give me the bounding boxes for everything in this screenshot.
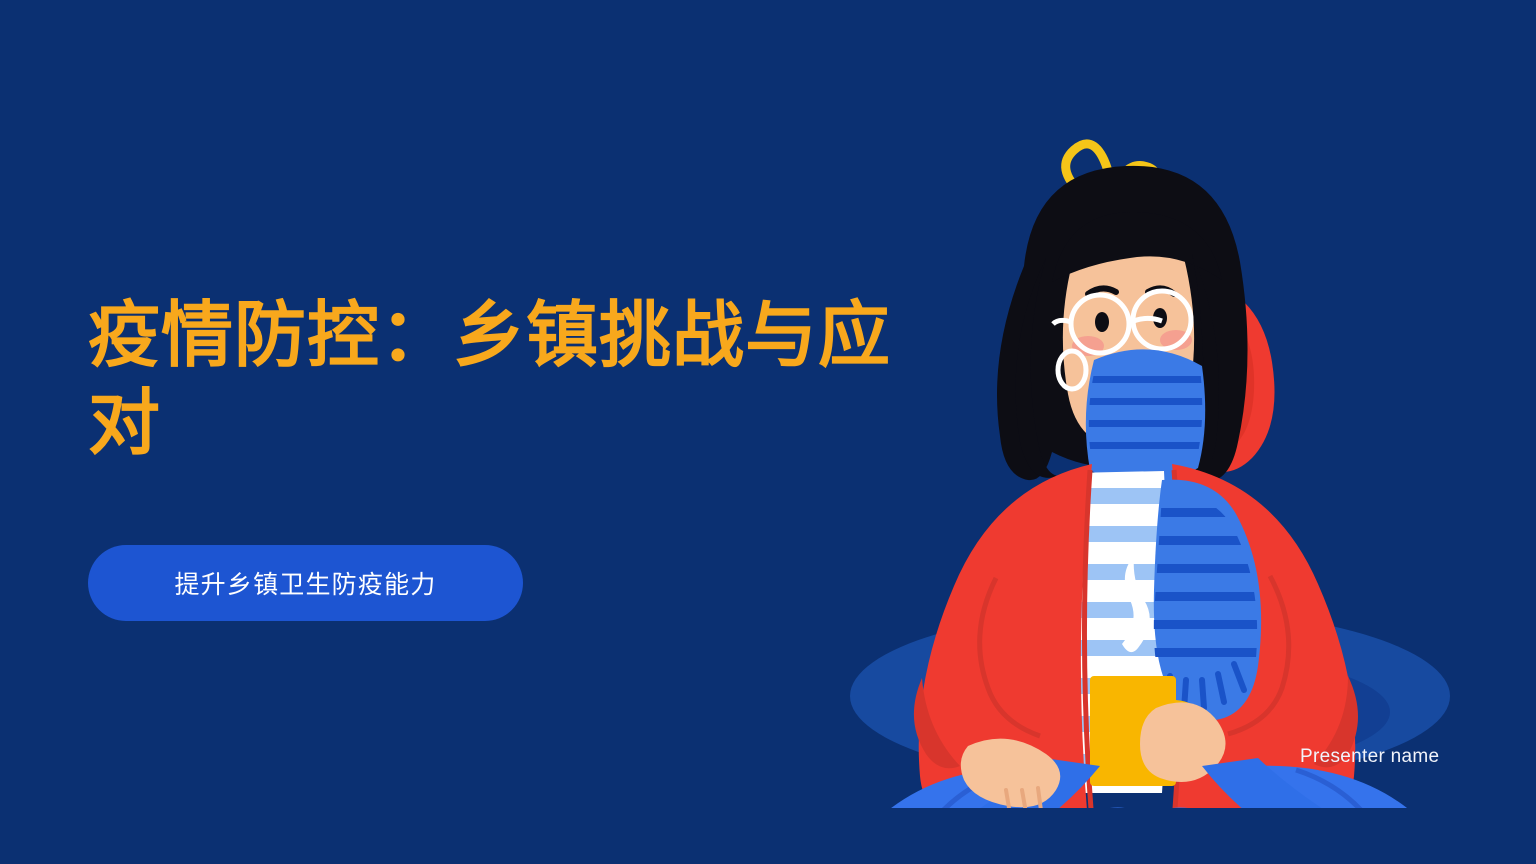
title-block: 疫情防控：乡镇挑战与应对	[88, 292, 908, 468]
presenter-name: Presenter name	[1300, 746, 1439, 768]
subtitle-text: 提升乡镇卫生防疫能力	[174, 565, 436, 601]
page-title: 疫情防控：乡镇挑战与应对	[88, 292, 908, 468]
subtitle-pill[interactable]: 提升乡镇卫生防疫能力	[88, 545, 523, 621]
eye-left	[1095, 312, 1109, 332]
blue-striped-scarf-mask	[1086, 349, 1210, 484]
slide-root: 疫情防控：乡镇挑战与应对 提升乡镇卫生防疫能力 Presenter name	[0, 0, 1536, 864]
